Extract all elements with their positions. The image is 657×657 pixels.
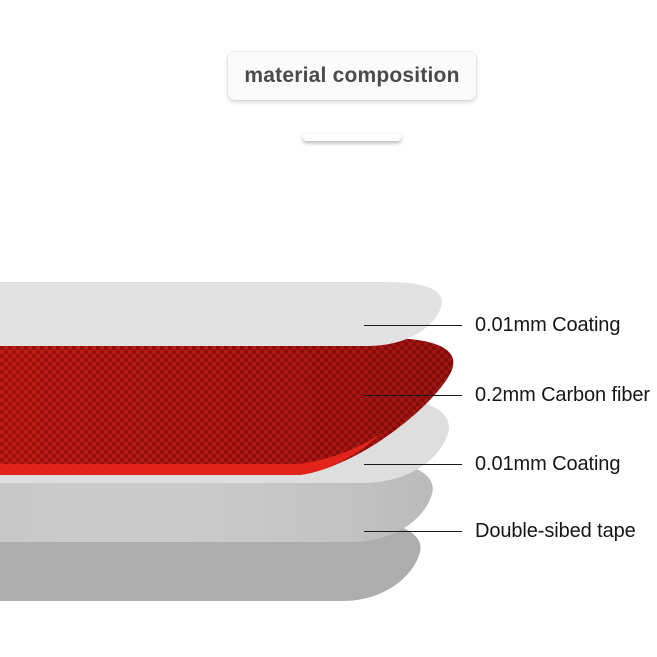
callout-label-carbon-fiber: 0.2mm Carbon fiber [475,384,650,407]
leader-line-icon [364,464,462,465]
callout-label-bottom-coating: 0.01mm Coating [475,453,620,476]
title-divider [303,134,401,141]
callout-carbon-fiber: 0.2mm Carbon fiber [364,382,650,408]
diagram-canvas: material composition [0,0,657,657]
leader-line-icon [364,325,462,326]
callout-double-sided-tape: Double-sibed tape [364,518,636,544]
callout-top-coating: 0.01mm Coating [364,312,620,338]
page-title: material composition [244,64,459,88]
callout-label-double-sided-tape: Double-sibed tape [475,520,636,543]
leader-line-icon [364,395,462,396]
title-badge: material composition [228,52,476,100]
callout-bottom-coating: 0.01mm Coating [364,451,620,477]
leader-line-icon [364,531,462,532]
callout-label-top-coating: 0.01mm Coating [475,314,620,337]
